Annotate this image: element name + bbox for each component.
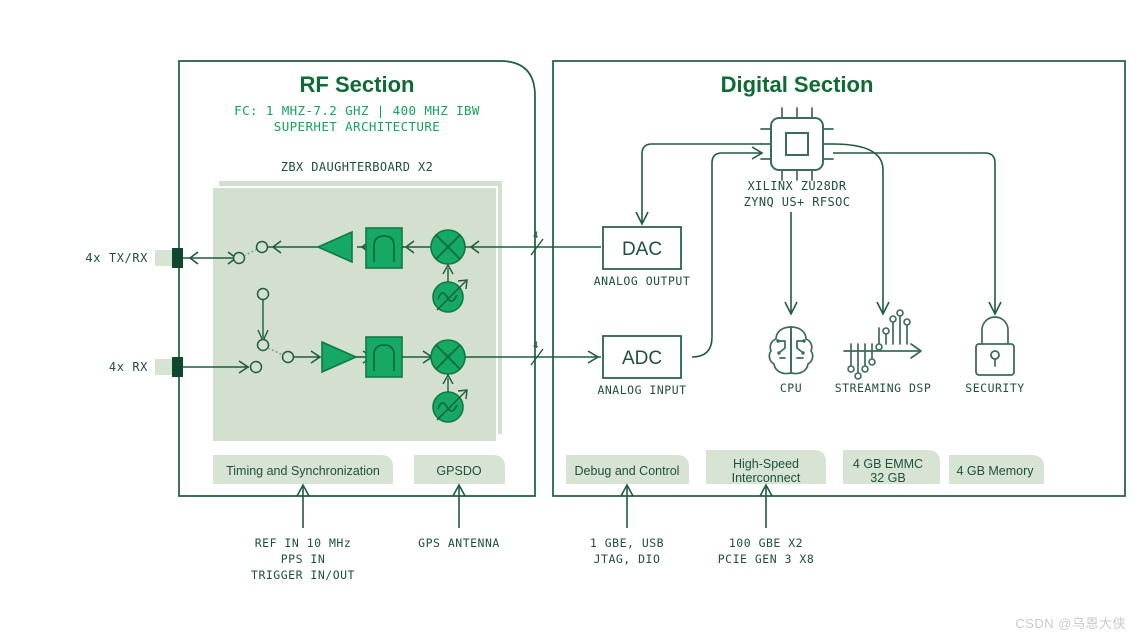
pill-memory-label: 4 GB Memory [956, 464, 1034, 478]
pill-timing-sync-label: Timing and Synchronization [226, 464, 380, 478]
tx-bandpass-filter [366, 228, 402, 268]
tx-switch-pole-node [257, 242, 268, 253]
rx-bus-width: 4 [533, 341, 538, 351]
dac-caption: ANALOG OUTPUT [594, 274, 691, 288]
streaming-dsp-label: STREAMING DSP [835, 381, 932, 395]
digital-caption-2-line-2: PCIE GEN 3 X8 [718, 552, 815, 566]
pill-debug-control-label: Debug and Control [575, 464, 680, 478]
rf-spec-line-2: SUPERHET ARCHITECTURE [274, 119, 440, 134]
rf-spec-line-1: FC: 1 MHZ-7.2 GHZ | 400 MHZ IBW [234, 103, 480, 118]
fpga-label-line-2: ZYNQ US+ RFSOC [744, 195, 851, 209]
fpga-to-dsp-wire [833, 144, 883, 312]
rf-caption-1-line-1: REF IN 10 MHz [255, 536, 352, 550]
tx-bus-width: 4 [533, 231, 538, 241]
tx-local-oscillator [433, 282, 463, 312]
security-label: SECURITY [965, 381, 1024, 395]
port-label-txrx: 4x TX/RX [85, 251, 148, 265]
brain-icon [769, 327, 812, 374]
digital-caption-1-line-1: 1 GBE, USB [590, 536, 664, 550]
rx-switch-pole-node [258, 340, 269, 351]
rf-caption-1-line-3: TRIGGER IN/OUT [251, 568, 355, 582]
pill-interconnect-line-2: Interconnect [732, 471, 801, 485]
port-label-rx: 4x RX [109, 360, 148, 374]
dac-label: DAC [622, 239, 662, 260]
cpu-label: CPU [780, 381, 802, 395]
tx-switch-common-node [234, 253, 245, 264]
rf-caption-1-line-2: PPS IN [281, 552, 326, 566]
txrx-port-connector [172, 248, 183, 268]
pill-emmc-line-1: 4 GB EMMC [853, 457, 923, 471]
fpga-to-dac-wire [642, 144, 762, 222]
adc-label: ADC [622, 348, 662, 369]
block-diagram: RF Section FC: 1 MHZ-7.2 GHZ | 400 MHZ I… [0, 0, 1140, 641]
rx-local-oscillator [433, 392, 463, 422]
digital-section-title: Digital Section [721, 72, 874, 97]
rx-switch-out-node [283, 352, 294, 363]
digital-caption-2-line-1: 100 GBE X2 [729, 536, 803, 550]
rx-port-connector [172, 357, 183, 377]
dsp-signal-icon [844, 310, 921, 379]
pill-emmc-line-2: 32 GB [870, 471, 905, 485]
tx-switch-idle-pole [258, 289, 269, 300]
pill-interconnect-line-1: High-Speed [733, 457, 799, 471]
lock-icon [976, 317, 1014, 375]
fpga-label-line-1: XILINX ZU28DR [747, 179, 846, 193]
chip-icon [761, 108, 833, 180]
rf-caption-2-line-1: GPS ANTENNA [418, 536, 500, 550]
daughterboard-label: ZBX DAUGHTERBOARD X2 [281, 160, 434, 174]
watermark: CSDN @乌恩大侠 [1015, 613, 1126, 632]
rf-section-title: RF Section [300, 72, 415, 97]
pill-gpsdo-label: GPSDO [436, 464, 481, 478]
fpga-to-security-wire [833, 153, 995, 312]
rx-switch-common-node [251, 362, 262, 373]
rx-bandpass-filter [366, 337, 402, 377]
digital-caption-1-line-2: JTAG, DIO [594, 552, 661, 566]
diagram-canvas: RF Section FC: 1 MHZ-7.2 GHZ | 400 MHZ I… [0, 0, 1140, 641]
adc-caption: ANALOG INPUT [597, 383, 686, 397]
